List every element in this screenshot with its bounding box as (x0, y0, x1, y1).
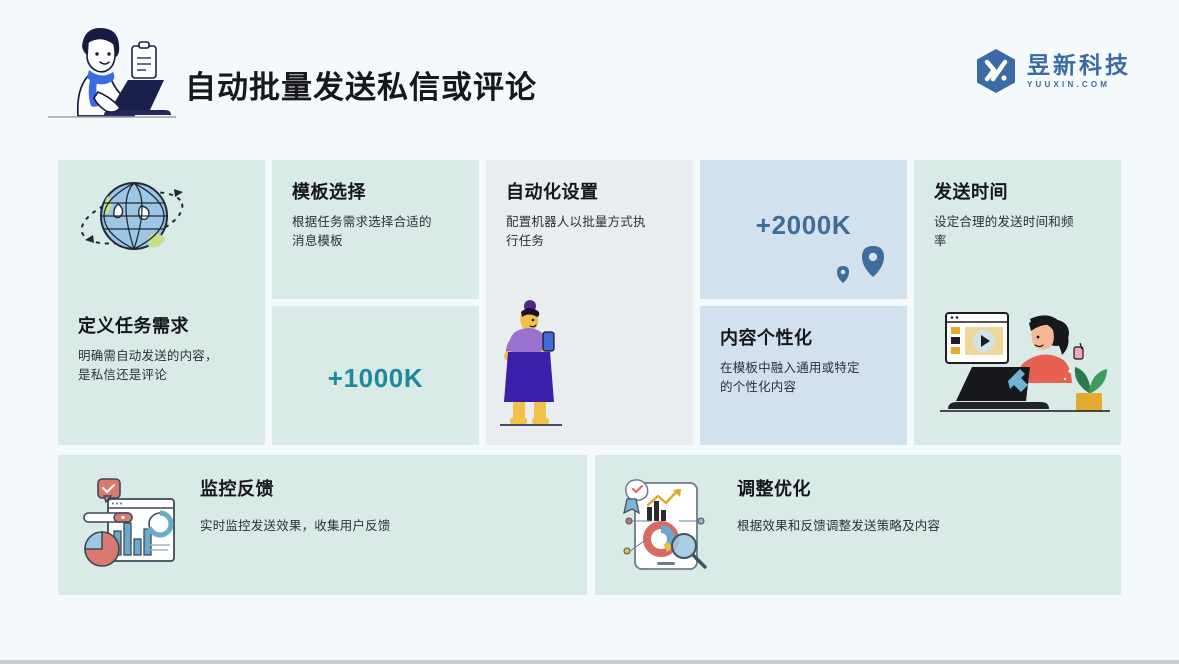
hexagon-x-logo-icon (974, 48, 1018, 94)
grid-column-4: +2000K 内容个性化 在模板中融入通用或特定 的个性化内容 (700, 160, 907, 445)
bottom-card-row: 监控反馈 实时监控发送效果，收集用户反馈 (58, 455, 1121, 595)
optimize-adjust-text: 调整优化 根据效果和反馈调整发送策略及内容 (737, 475, 1107, 534)
grid-column-2: 模板选择 根据任务需求选择合适的 消息模板 +1000K (272, 160, 479, 445)
card-title: 自动化设置 (506, 178, 673, 204)
card-automation-setting[interactable]: 自动化设置 配置机器人以批量方式执 行任务 (486, 160, 693, 445)
header: 自动批量发送私信或评论 昱新科技 YUUXIN.COM (0, 0, 1179, 150)
brand-logo: 昱新科技 YUUXIN.COM (974, 48, 1131, 94)
card-content-personalization[interactable]: 内容个性化 在模板中融入通用或特定 的个性化内容 (700, 306, 907, 445)
logo-domain: YUUXIN.COM (1027, 80, 1131, 89)
stat-value: +1000K (272, 363, 479, 394)
card-stat-1000k[interactable]: +1000K (272, 306, 479, 445)
card-title: 调整优化 (737, 475, 1107, 501)
card-description: 在模板中融入通用或特定 的个性化内容 (720, 359, 887, 398)
woman-at-laptop-illustration (934, 305, 1114, 425)
card-stat-2000k[interactable]: +2000K (700, 160, 907, 299)
card-description: 实时监控发送效果，收集用户反馈 (200, 515, 573, 534)
card-description: 设定合理的发送时间和频 率 (934, 213, 1101, 252)
grid-column-1: 定义任务需求 明确需自动发送的内容， 是私信还是评论 (58, 160, 265, 445)
logo-company-name: 昱新科技 (1027, 53, 1131, 77)
card-description: 根据任务需求选择合适的 消息模板 (292, 213, 459, 252)
card-description: 明确需自动发送的内容， 是私信还是评论 (78, 347, 247, 386)
card-description: 配置机器人以批量方式执 行任务 (506, 213, 673, 252)
stat-value: +2000K (700, 210, 907, 241)
monitor-feedback-text: 监控反馈 实时监控发送效果，收集用户反馈 (200, 475, 573, 534)
card-title: 内容个性化 (720, 324, 887, 350)
grid-column-5: 发送时间 设定合理的发送时间和频 率 (914, 160, 1121, 445)
feature-card-grid: 定义任务需求 明确需自动发送的内容， 是私信还是评论 模板选择 根据任务需求选择… (58, 160, 1121, 445)
card-optimize-adjust[interactable]: 调整优化 根据效果和反馈调整发送策略及内容 (595, 455, 1121, 595)
woman-with-phone-illustration (494, 298, 574, 428)
card-description: 根据效果和反馈调整发送策略及内容 (737, 515, 1107, 534)
card-title: 模板选择 (292, 178, 459, 204)
card-send-time[interactable]: 发送时间 设定合理的发送时间和频 率 (914, 160, 1121, 445)
card-template-select[interactable]: 模板选择 根据任务需求选择合适的 消息模板 (272, 160, 479, 299)
map-pin-icon (827, 242, 891, 292)
card-define-task[interactable]: 定义任务需求 明确需自动发送的内容， 是私信还是评论 (58, 160, 265, 445)
tablet-analytics-icon (617, 477, 721, 573)
dashboard-chart-icon (80, 477, 184, 573)
person-at-laptop-illustration (40, 18, 180, 128)
globe-orbit-icon (74, 172, 194, 268)
slide-canvas: 自动批量发送私信或评论 昱新科技 YUUXIN.COM (0, 0, 1179, 660)
page-title: 自动批量发送私信或评论 (185, 62, 537, 107)
card-title: 监控反馈 (200, 475, 573, 501)
card-title: 定义任务需求 (78, 312, 247, 338)
card-title: 发送时间 (934, 178, 1101, 204)
grid-column-3: 自动化设置 配置机器人以批量方式执 行任务 (486, 160, 693, 445)
slide-bottom-edge (0, 660, 1179, 664)
card-monitor-feedback[interactable]: 监控反馈 实时监控发送效果，收集用户反馈 (58, 455, 587, 595)
